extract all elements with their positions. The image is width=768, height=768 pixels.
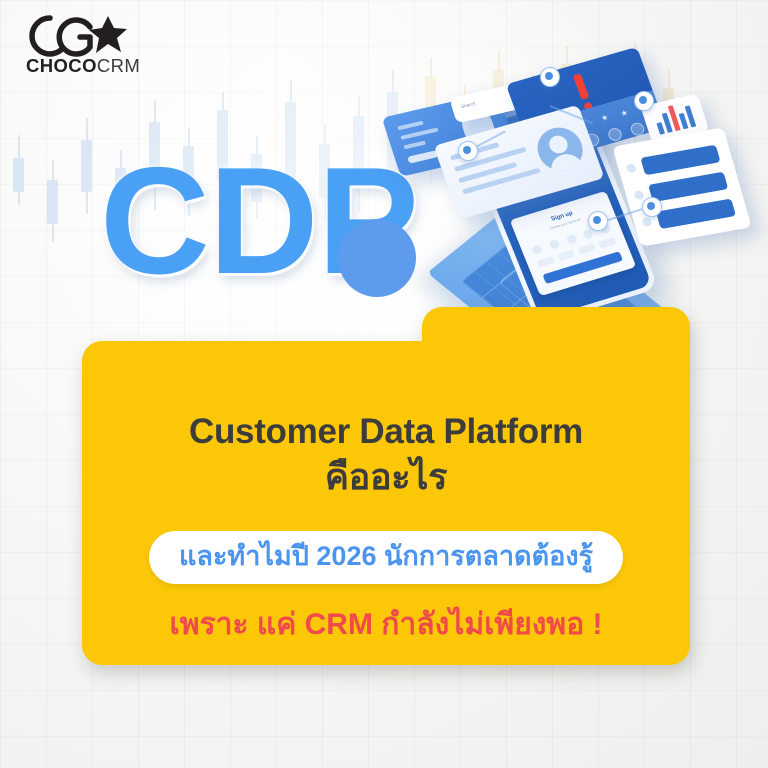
review-icon-node bbox=[607, 127, 624, 143]
headline-block: Customer Data Platform คืออะไร bbox=[82, 409, 690, 499]
decorative-blue-circle bbox=[338, 219, 416, 297]
yellow-folder-card: Customer Data Platform คืออะไร และทำไมปี… bbox=[82, 307, 690, 665]
folder-body: Customer Data Platform คืออะไร และทำไมปี… bbox=[82, 341, 690, 665]
poster-canvas: CHOCOCRM CDP Sign up Create your account bbox=[0, 0, 768, 768]
network-node-icon bbox=[642, 197, 662, 217]
brand-logo[interactable]: CHOCOCRM bbox=[18, 14, 150, 80]
subheadline-text: และทำไมปี 2026 นักการตลาดต้องรู้ bbox=[179, 541, 593, 571]
brand-logo-text: CHOCOCRM bbox=[26, 55, 140, 77]
brand-name-bold: CHOCO bbox=[26, 55, 97, 76]
exclamation-mark-icon bbox=[573, 73, 590, 100]
network-node-icon bbox=[588, 211, 608, 231]
star-icon: ★ bbox=[619, 107, 630, 119]
star-icon: ★ bbox=[599, 112, 610, 124]
headline-line-2: คืออะไร bbox=[82, 454, 690, 499]
cg-star-monogram-icon bbox=[24, 14, 128, 58]
network-node-icon bbox=[540, 67, 560, 87]
brand-name-light: CRM bbox=[97, 55, 140, 76]
search-input[interactable]: Search bbox=[460, 101, 476, 109]
subheadline-pill: และทำไมปี 2026 นักการตลาดต้องรู้ bbox=[149, 531, 623, 584]
network-node-icon bbox=[458, 141, 478, 161]
review-icon-node bbox=[629, 121, 646, 137]
network-node-icon bbox=[634, 91, 654, 111]
signup-form-card: Sign up Create your account bbox=[510, 191, 637, 296]
hero-illustration: Sign up Create your account Search bbox=[400, 45, 768, 335]
user-avatar-icon bbox=[531, 122, 588, 176]
punchline-text: เพราะ แค่ CRM กำลังไม่เพียงพอ ! bbox=[82, 607, 690, 643]
headline-line-1: Customer Data Platform bbox=[82, 409, 690, 454]
